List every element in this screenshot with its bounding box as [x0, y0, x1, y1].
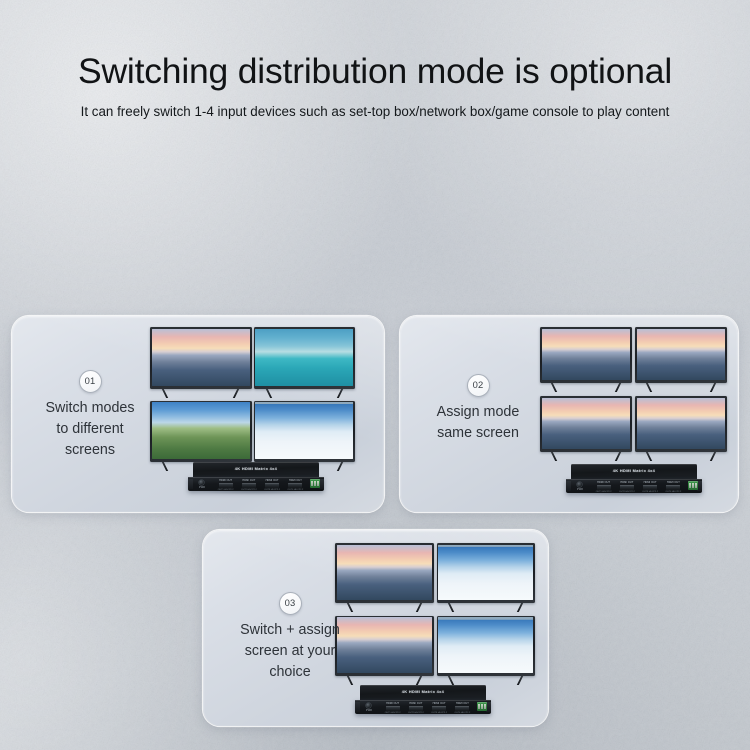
hdmi-jack-icon: [432, 706, 446, 711]
hdmi-port-label: HDMI OUT: [261, 479, 284, 482]
hdmi-port-label: HDMI OUT: [404, 702, 427, 705]
device-top-panel: 4K HDMI Matrix 4x4: [360, 685, 486, 700]
hdmi-port-label: HDMI OUT: [237, 479, 260, 482]
mode-card-02[interactable]: 02 Assign mode same screen: [400, 316, 738, 512]
tv-display-snowy-winter-alps: [255, 402, 353, 459]
tv-bezel: [150, 401, 252, 463]
card-caption-block: 02 Assign mode same screen: [414, 374, 542, 444]
tv-screen-4: [254, 401, 356, 472]
card-badge: 01: [79, 370, 102, 393]
device-shadow: [574, 493, 694, 497]
tv-bezel: [635, 396, 727, 452]
tv-screen-1: [540, 327, 632, 392]
tv-display-coastal-sunset-cliff: [637, 398, 726, 450]
tv-display-snowy-winter-alps: [438, 617, 533, 672]
hdmi-jack-icon: [666, 485, 680, 490]
device-front-panel: PWR HDMI OUT OUT1 HDCP2.2 HDMI OUT OUT2 …: [355, 700, 491, 714]
tv-display-coastal-sunset-cliff: [637, 329, 726, 381]
device-brand-label: 4K HDMI Matrix 4x4: [193, 466, 319, 471]
device-front-panel: PWR HDMI OUT OUT1 HDCP2.2 HDMI OUT OUT2 …: [188, 477, 324, 491]
tv-bezel: [254, 401, 356, 463]
tv-stand-feet: [540, 383, 632, 392]
device-top-panel: 4K HDMI Matrix 4x4: [193, 462, 319, 477]
hdmi-jack-icon: [386, 706, 400, 711]
power-knob-label: PWR: [195, 486, 209, 489]
hdmi-port-label: HDMI OUT: [662, 481, 685, 484]
tv-display-turquoise-bay-town: [255, 329, 353, 386]
hdmi-port-2[interactable]: HDMI OUT OUT2 HDCP2.2: [237, 479, 260, 491]
tv-stand-feet: [150, 389, 252, 398]
hdmi-port-4[interactable]: HDMI OUT OUT4 HDCP2.2: [662, 481, 685, 493]
tv-display-coastal-sunset-cliff: [542, 329, 631, 381]
hdmi-port-label: HDMI OUT: [592, 481, 615, 484]
hdmi-port-3[interactable]: HDMI OUT OUT3 HDCP2.2: [261, 479, 284, 491]
mode-card-03[interactable]: 03 Switch + assign screen at your choice: [203, 530, 548, 726]
device-brand-label: 4K HDMI Matrix 4x4: [571, 468, 697, 473]
card-caption-block: 01 Switch modes to different screens: [26, 370, 154, 461]
tv-grid: [150, 327, 355, 471]
tv-display-coastal-sunset-cliff: [152, 329, 250, 386]
mode-card-01[interactable]: 01 Switch modes to different screens: [12, 316, 384, 512]
tv-display-snowy-winter-alps: [438, 545, 533, 600]
tv-screen-2: [254, 327, 356, 398]
hdmi-jack-icon: [643, 485, 657, 490]
hdmi-matrix-device[interactable]: 4K HDMI Matrix 4x4 PWR HDMI OUT OUT1 HDC…: [566, 464, 702, 493]
device-port-row: HDMI OUT OUT1 HDCP2.2 HDMI OUT OUT2 HDCP…: [381, 702, 474, 714]
hdmi-jack-icon: [620, 485, 634, 490]
power-knob-icon[interactable]: [577, 482, 582, 487]
power-knob-icon[interactable]: [366, 703, 371, 708]
tv-stand-feet: [437, 603, 536, 612]
hdmi-port-3[interactable]: HDMI OUT OUT3 HDCP2.2: [639, 481, 662, 493]
green-terminal-block-icon: [688, 481, 698, 490]
hdmi-port-label: HDMI OUT: [451, 702, 474, 705]
green-terminal-block-icon: [477, 702, 487, 711]
hdmi-port-2[interactable]: HDMI OUT OUT2 HDCP2.2: [615, 481, 638, 493]
tv-bezel: [150, 327, 252, 389]
tv-grid: [540, 327, 727, 461]
green-terminal-block-icon: [310, 479, 320, 488]
hdmi-port-label: HDMI OUT: [284, 479, 307, 482]
hdmi-port-4[interactable]: HDMI OUT OUT4 HDCP2.2: [451, 702, 474, 714]
device-top-panel: 4K HDMI Matrix 4x4: [571, 464, 697, 479]
device-port-row: HDMI OUT OUT1 HDCP2.2 HDMI OUT OUT2 HDCP…: [592, 481, 685, 493]
page-title: Switching distribution mode is optional: [0, 0, 750, 90]
tv-screen-3: [150, 401, 252, 472]
tv-bezel: [635, 327, 727, 383]
hdmi-jack-icon: [288, 483, 302, 488]
hdmi-port-label: HDMI OUT: [214, 479, 237, 482]
hdmi-port-label: HDMI OUT: [615, 481, 638, 484]
card-caption-text: Switch + assign screen at your choice: [215, 620, 365, 683]
hdmi-port-label: HDMI OUT: [428, 702, 451, 705]
power-knob-label: PWR: [573, 488, 587, 491]
hdmi-port-1[interactable]: HDMI OUT OUT1 HDCP2.2: [381, 702, 404, 714]
tv-screen-2: [437, 543, 536, 612]
device-brand-label: 4K HDMI Matrix 4x4: [360, 689, 486, 694]
tv-screen-4: [635, 396, 727, 461]
tv-screen-2: [635, 327, 727, 392]
tv-screen-3: [540, 396, 632, 461]
power-knob-icon[interactable]: [199, 480, 204, 485]
card-badge: 02: [467, 374, 490, 397]
device-shadow: [363, 714, 483, 718]
tv-stand-feet: [437, 676, 536, 685]
hdmi-jack-icon: [455, 706, 469, 711]
tv-bezel: [540, 396, 632, 452]
card-badge: 03: [279, 592, 302, 615]
hdmi-port-4[interactable]: HDMI OUT OUT4 HDCP2.2: [284, 479, 307, 491]
device-shadow: [196, 491, 316, 495]
hdmi-port-label: HDMI OUT: [381, 702, 404, 705]
tv-bezel: [254, 327, 356, 389]
tv-stand-feet: [635, 452, 727, 461]
card-caption-block: 03 Switch + assign screen at your choice: [215, 592, 365, 683]
power-knob-label: PWR: [362, 709, 376, 712]
hdmi-port-2[interactable]: HDMI OUT OUT2 HDCP2.2: [404, 702, 427, 714]
tv-bezel: [540, 327, 632, 383]
hdmi-jack-icon: [409, 706, 423, 711]
device-front-panel: PWR HDMI OUT OUT1 HDCP2.2 HDMI OUT OUT2 …: [566, 479, 702, 493]
hdmi-port-1[interactable]: HDMI OUT OUT1 HDCP2.2: [214, 479, 237, 491]
hdmi-port-1[interactable]: HDMI OUT OUT1 HDCP2.2: [592, 481, 615, 493]
hdmi-port-label: HDMI OUT: [639, 481, 662, 484]
tv-screen-1: [150, 327, 252, 398]
hdmi-jack-icon: [597, 485, 611, 490]
tv-display-coastal-sunset-cliff: [542, 398, 631, 450]
device-port-row: HDMI OUT OUT1 HDCP2.2 HDMI OUT OUT2 HDCP…: [214, 479, 307, 491]
tv-stand-feet: [254, 389, 356, 398]
hdmi-jack-icon: [265, 483, 279, 488]
page-subtitle: It can freely switch 1-4 input devices s…: [25, 101, 725, 123]
hdmi-jack-icon: [242, 483, 256, 488]
card-caption-text: Switch modes to different screens: [26, 398, 154, 461]
hdmi-jack-icon: [219, 483, 233, 488]
hdmi-matrix-device[interactable]: 4K HDMI Matrix 4x4 PWR HDMI OUT OUT1 HDC…: [355, 685, 491, 714]
tv-stand-feet: [540, 452, 632, 461]
hdmi-matrix-device[interactable]: 4K HDMI Matrix 4x4 PWR HDMI OUT OUT1 HDC…: [188, 462, 324, 491]
tv-bezel: [437, 616, 536, 676]
tv-bezel: [437, 543, 536, 603]
card-caption-text: Assign mode same screen: [414, 402, 542, 444]
tv-screen-4: [437, 616, 536, 685]
header: Switching distribution mode is optional …: [0, 0, 750, 123]
hdmi-port-3[interactable]: HDMI OUT OUT3 HDCP2.2: [428, 702, 451, 714]
tv-stand-feet: [635, 383, 727, 392]
tv-grid: [335, 543, 535, 685]
tv-display-green-karst-valley: [152, 402, 250, 459]
